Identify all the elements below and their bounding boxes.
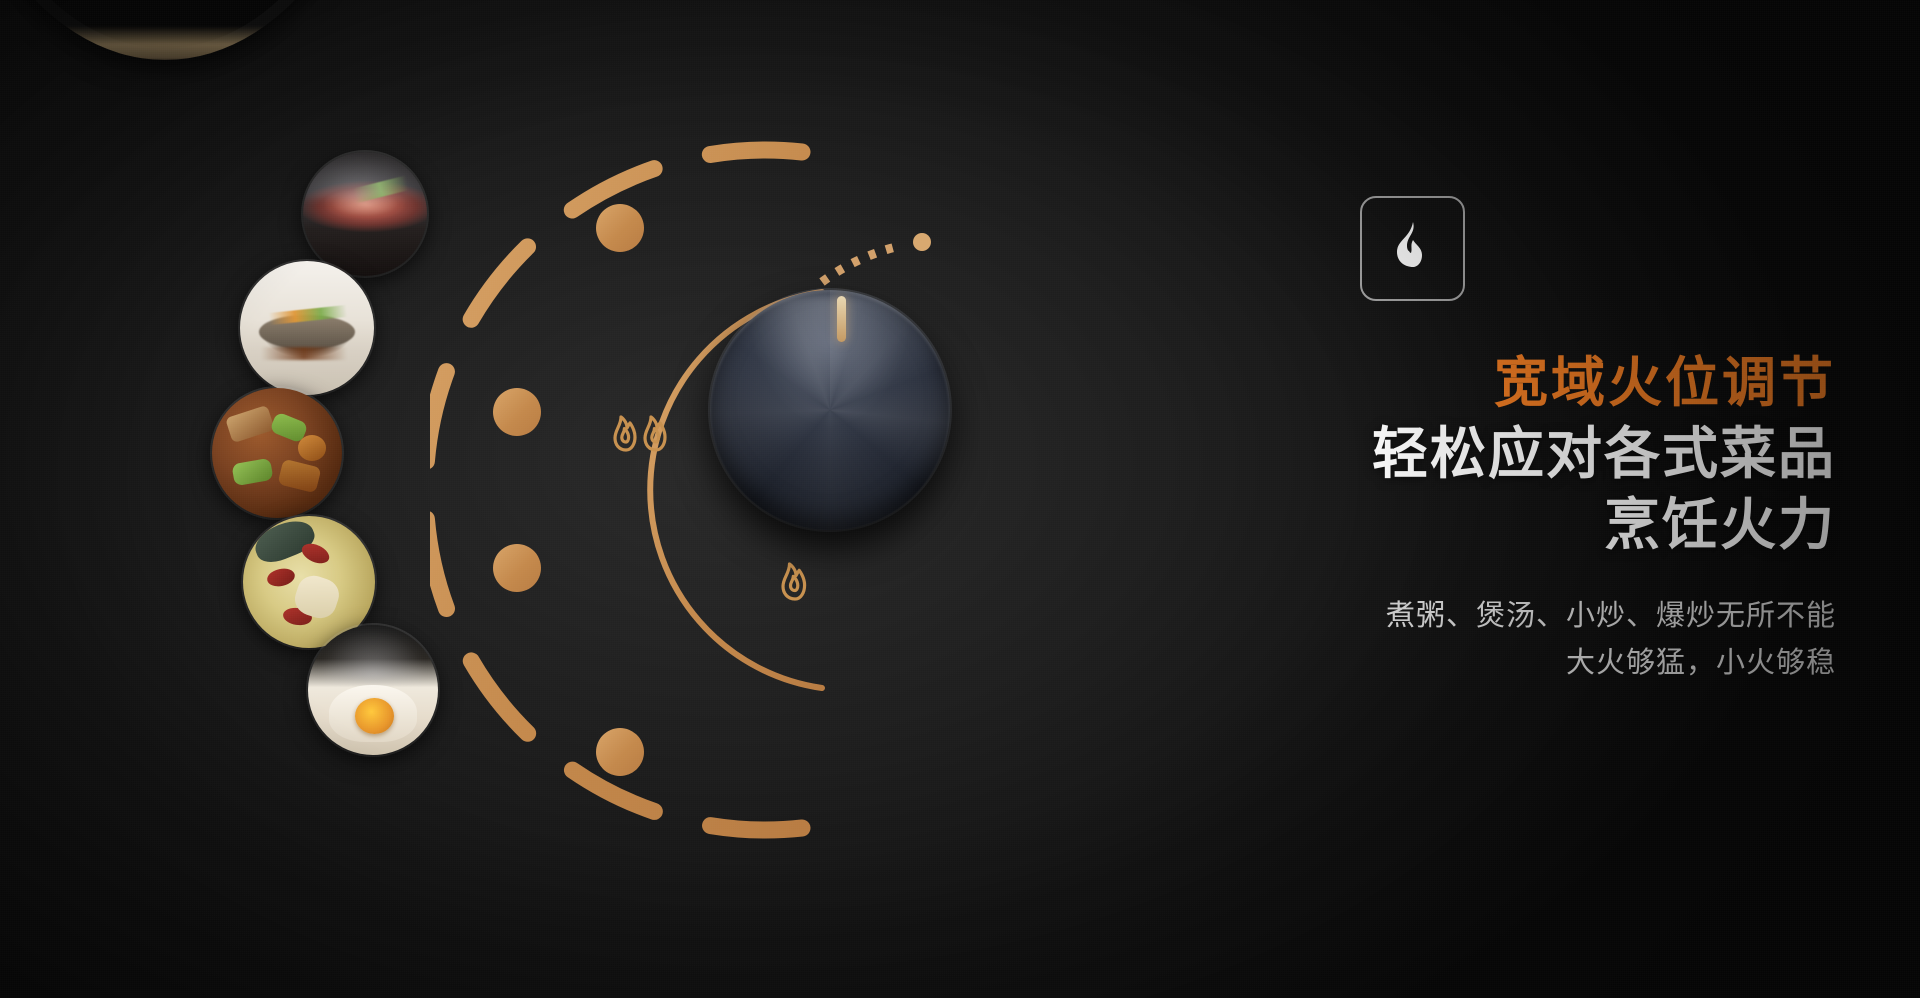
list-item[interactable]: 保温火 [308, 625, 582, 755]
headline-line-2: 烹饪火力 [1076, 491, 1836, 558]
food-thumb-0 [303, 152, 427, 276]
flame-icon [1390, 220, 1436, 278]
product-banner: 煎炸火 蒸煮火 爆炒火 [0, 0, 1920, 998]
food-thumb-1 [240, 261, 374, 395]
tick-end-dot [913, 233, 931, 251]
marketing-copy: 宽域火位调节 轻松应对各式菜品 烹饪火力 煮粥、煲汤、小炒、爆炒无所不能 大火够… [1076, 352, 1836, 686]
cooking-mode-list: 煎炸火 蒸煮火 爆炒火 [0, 0, 620, 998]
control-knob[interactable] [710, 290, 950, 530]
double-flame-icon [612, 398, 676, 459]
steam [303, 152, 427, 199]
headline-line-1: 轻松应对各式菜品 [1076, 420, 1836, 487]
subcopy-line-2: 大火够猛，小火够稳 [1076, 641, 1836, 686]
list-item[interactable]: 煎炸火 [303, 152, 571, 276]
soy-sauce [261, 347, 347, 360]
list-item[interactable]: 爆炒火 [212, 388, 486, 518]
list-item[interactable]: 蒸煮火 [240, 261, 518, 395]
egg-yolk [355, 698, 394, 734]
knob-highlight [744, 295, 917, 434]
tofu-piece [298, 435, 327, 461]
flame-badge [1360, 196, 1465, 301]
control-knob-assembly[interactable] [690, 270, 990, 570]
kicker-headline: 宽域火位调节 [1076, 352, 1836, 416]
food-thumb-2 [212, 388, 342, 518]
subcopy-line-1: 煮粥、煲汤、小炒、爆炒无所不能 [1076, 594, 1836, 639]
steam [321, 628, 425, 680]
food-thumb-4 [308, 625, 438, 755]
knob-indicator [837, 296, 846, 342]
